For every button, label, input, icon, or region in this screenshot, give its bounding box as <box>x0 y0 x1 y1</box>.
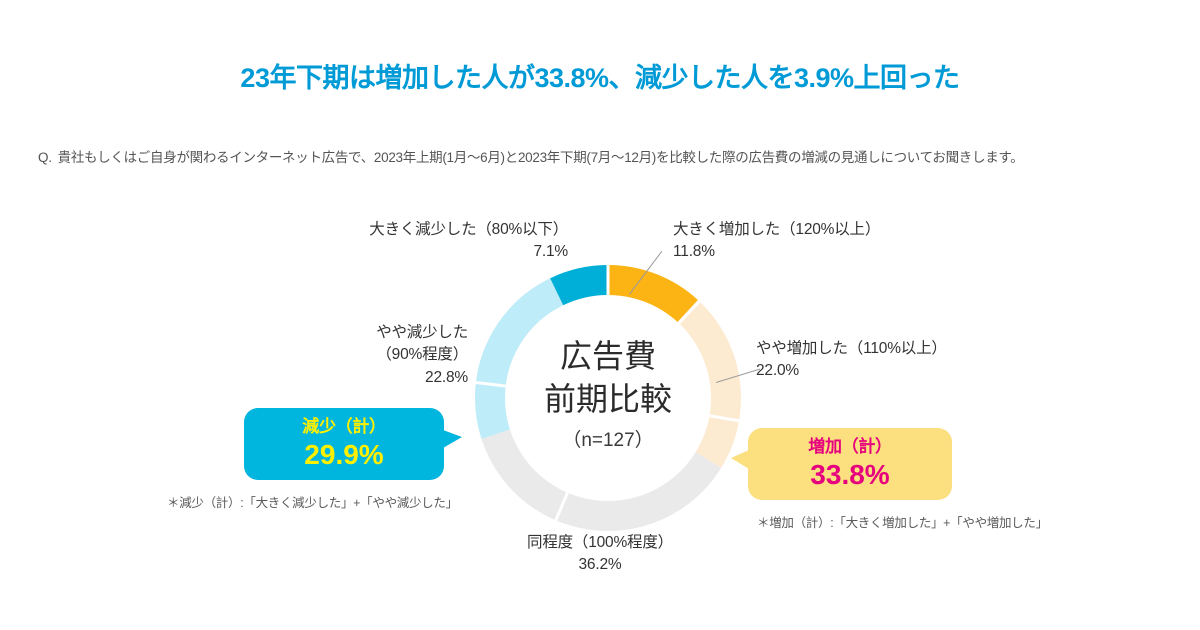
footnote-increase: ＊増加（計）:「大きく増加した」+「やや増加した」 <box>757 512 1048 531</box>
label-small-increase-value: 22.0% <box>756 360 947 382</box>
question-text: 貴社もしくはご自身が関わるインターネット広告で、2023年上期(1月〜6月)と2… <box>58 150 1024 165</box>
label-small-decrease-name-line1: やや減少した <box>376 324 468 341</box>
label-small-decrease: やや減少した （90%程度） 22.8% <box>338 322 468 389</box>
callout-decrease-tail <box>443 430 462 448</box>
label-small-decrease-value: 22.8% <box>338 367 468 389</box>
donut-center-sample-size: （n=127） <box>562 429 653 451</box>
footnote-decrease: ＊減少（計）:「大きく減少した」+「やや減少した」 <box>167 492 458 511</box>
callout-decrease-total: 減少（計） 29.9% <box>244 408 444 480</box>
label-same-value: 36.2% <box>455 554 745 576</box>
label-big-decrease-value: 7.1% <box>346 241 568 263</box>
label-big-increase-name: 大きく増加した（120%以上） <box>673 221 880 238</box>
label-big-decrease-name: 大きく減少した（80%以下） <box>369 221 568 238</box>
question-marker: Q. <box>38 150 52 165</box>
callout-decrease-title: 減少（計） <box>244 417 444 437</box>
label-big-decrease: 大きく減少した（80%以下） 7.1% <box>346 219 568 264</box>
donut-chart: 広告費 前期比較 （n=127） <box>460 250 756 546</box>
label-same: 同程度（100%程度） 36.2% <box>455 532 745 577</box>
page-title: 23年下期は増加した人が33.8%、減少した人を3.9%上回った <box>0 56 1200 95</box>
question-line: Q.貴社もしくはご自身が関わるインターネット広告で、2023年上期(1月〜6月)… <box>38 146 1023 166</box>
label-small-decrease-name-line2: （90%程度） <box>338 344 468 366</box>
callout-increase-total: 増加（計） 33.8% <box>748 428 952 500</box>
callout-increase-value: 33.8% <box>748 458 952 492</box>
label-big-increase-value: 11.8% <box>673 241 880 263</box>
label-small-increase-name: やや増加した（110%以上） <box>756 340 947 357</box>
donut-svg: 広告費 前期比較 （n=127） <box>460 250 756 546</box>
label-same-name: 同程度（100%程度） <box>527 534 673 551</box>
callout-decrease-value: 29.9% <box>244 438 444 472</box>
callout-increase-tail <box>731 450 749 469</box>
label-big-increase: 大きく増加した（120%以上） 11.8% <box>673 219 880 264</box>
donut-center-line2: 前期比較 <box>544 381 672 417</box>
label-small-increase: やや増加した（110%以上） 22.0% <box>756 338 947 383</box>
chart-page: 23年下期は増加した人が33.8%、減少した人を3.9%上回った Q.貴社もしく… <box>0 0 1200 630</box>
donut-center-line1: 広告費 <box>560 338 656 374</box>
callout-increase-title: 増加（計） <box>748 437 952 457</box>
